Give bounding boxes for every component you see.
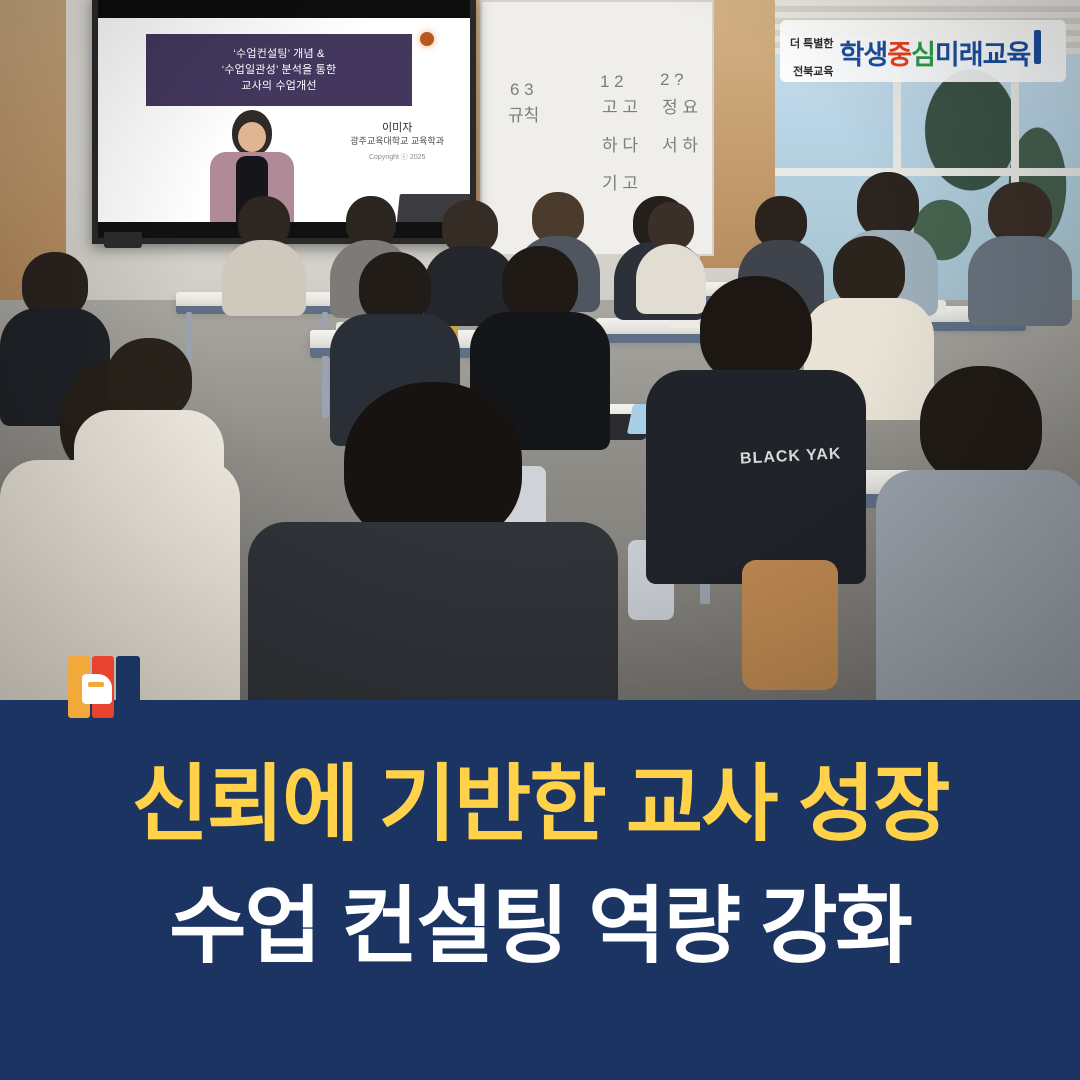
- person-head: [857, 172, 919, 238]
- campaign-logo-badge: 더 특별한 전북교육 학생 중 심 미래교육: [780, 20, 1066, 82]
- whiteboard-note: 기 고: [602, 174, 638, 193]
- person-body: [248, 522, 618, 710]
- person-head: [988, 182, 1052, 244]
- caption-panel: 신뢰에 기반한 교사 성장 수업 컨설팅 역량 강화: [0, 700, 1080, 1080]
- badge-accent-bar: [1034, 30, 1041, 64]
- slide-title-line3: 교사의 수업개선: [241, 78, 317, 94]
- whiteboard-note: 서 하: [662, 136, 698, 155]
- audience-person: [876, 366, 1080, 710]
- person-body: [222, 240, 306, 316]
- presenter-affiliation: 광주교육대학교 교육학과: [350, 135, 444, 148]
- whiteboard-note: 6 3: [510, 80, 534, 99]
- person-body: [646, 370, 866, 584]
- whiteboard-note: 2 ?: [660, 70, 684, 89]
- person-head: [106, 338, 192, 420]
- audience-person-foreground: [248, 382, 618, 710]
- person-head: [648, 202, 694, 250]
- badge-small-text: 더 특별한 전북교육: [790, 23, 834, 79]
- audience-person: [968, 182, 1072, 322]
- slide-title-line2: ‘수업일관성’ 분석을 통한: [222, 62, 337, 78]
- badge-small-line1: 더 특별한: [790, 38, 834, 50]
- poster-card: 6 3 1 2 2 ? 규칙 고 고 하 다 정 요 서 하 기 고 ‘수업컨설…: [0, 0, 1080, 1080]
- whiteboard-note: 정 요: [662, 98, 698, 117]
- presenter-face: [238, 122, 266, 152]
- person-head: [700, 276, 812, 384]
- audience-person: [646, 276, 866, 576]
- caption-line-1: 신뢰에 기반한 교사 성장: [0, 760, 1080, 848]
- audience-person: [222, 196, 306, 314]
- person-body: [876, 470, 1080, 710]
- screen-top-bar: [98, 0, 470, 18]
- emblem-book-icon: [82, 674, 112, 704]
- slide-author-block: 이미자 광주교육대학교 교육학과 Copyright ⓒ 2025: [350, 122, 444, 164]
- person-head: [920, 366, 1042, 484]
- audience-person: [74, 338, 224, 578]
- whiteboard-note: 고 고: [602, 98, 638, 117]
- badge-word-1: 학생: [840, 33, 888, 72]
- person-body: [968, 236, 1072, 326]
- slide-title-line1: ‘수업컨설팅’ 개념 &: [233, 46, 324, 62]
- whiteboard-note: 하 다: [602, 136, 638, 155]
- whiteboard-note: 규칙: [508, 106, 539, 125]
- slide-copyright: Copyright ⓒ 2025: [369, 151, 425, 164]
- badge-small-line2: 전북교육: [793, 66, 833, 78]
- projector-indicator-icon: [420, 32, 434, 46]
- person-body: [74, 410, 224, 584]
- organization-emblem-icon: [68, 656, 142, 718]
- badge-big-text: 학생 중 심 미래교육: [840, 30, 1042, 72]
- caption-line-2: 수업 컨설팅 역량 강화: [0, 882, 1080, 970]
- slide-title-band: ‘수업컨설팅’ 개념 & ‘수업일관성’ 분석을 통한 교사의 수업개선: [146, 34, 412, 106]
- coat-on-chair: [742, 560, 838, 690]
- badge-word-2: 중: [887, 33, 911, 72]
- emblem-bar-navy: [116, 656, 140, 718]
- whiteboard-note: 1 2: [600, 72, 624, 91]
- badge-word-3: 심: [911, 33, 935, 72]
- badge-word-4: 미래교육: [935, 33, 1030, 72]
- presentation-slide: ‘수업컨설팅’ 개념 & ‘수업일관성’ 분석을 통한 교사의 수업개선 이미자…: [98, 18, 470, 222]
- screen-stand: [104, 232, 142, 248]
- classroom-photo: 6 3 1 2 2 ? 규칙 고 고 하 다 정 요 서 하 기 고 ‘수업컨설…: [0, 0, 1080, 710]
- presenter-name: 이미자: [350, 122, 444, 135]
- person-head: [502, 246, 578, 322]
